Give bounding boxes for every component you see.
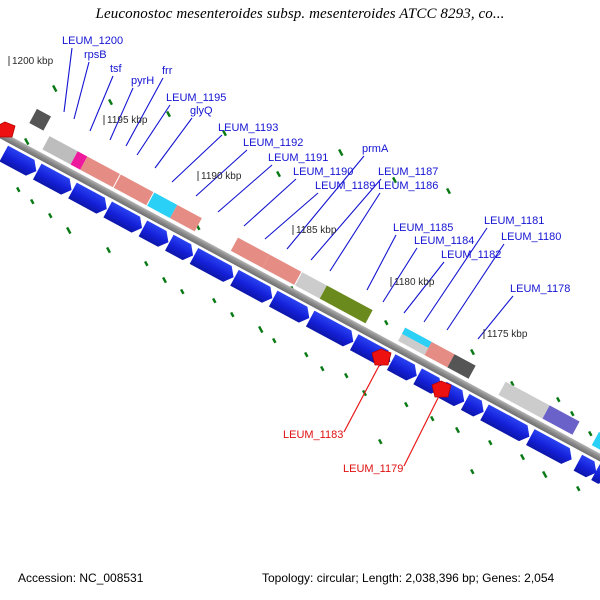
gene-leader-line bbox=[155, 118, 192, 168]
genome-map-canvas[interactable]: LEUM_1200rpsBtsfpyrHfrrLEUM_1195glyQLEUM… bbox=[0, 0, 600, 600]
gene-leader-line bbox=[367, 235, 396, 290]
gene-label[interactable]: pyrH bbox=[131, 75, 154, 87]
gene-label[interactable]: LEUM_1195 bbox=[166, 92, 226, 104]
scale-tick-label: 1200 kbp bbox=[12, 56, 54, 67]
gene-label[interactable]: LEUM_1193 bbox=[218, 122, 278, 134]
marked-gene-label[interactable]: LEUM_1183 bbox=[283, 429, 343, 441]
gene-leader-line bbox=[137, 105, 170, 155]
marked-gene-leader-line bbox=[404, 394, 440, 466]
scale-tick-label: 1195 kbp bbox=[107, 115, 148, 126]
gene-label[interactable]: LEUM_1178 bbox=[510, 283, 570, 295]
scale-tick-label: 1190 kbp bbox=[201, 171, 242, 182]
gene-label[interactable]: LEUM_1192 bbox=[243, 137, 303, 149]
gene-label[interactable]: LEUM_1190 bbox=[293, 166, 353, 178]
gene-leader-line bbox=[126, 78, 163, 146]
gene-leader-line bbox=[64, 48, 72, 112]
gene-label[interactable]: LEUM_1191 bbox=[268, 152, 328, 164]
gene-label[interactable]: frr bbox=[162, 65, 173, 77]
footer-metadata: Topology: circular; Length: 2,038,396 bp… bbox=[262, 571, 554, 585]
gene-leader-line bbox=[74, 62, 89, 119]
gene-label[interactable]: prmA bbox=[362, 143, 389, 155]
footer-accession: Accession: NC_008531 bbox=[18, 571, 143, 585]
genome-viewer: Leuconostoc mesenteroides subsp. mesente… bbox=[0, 0, 600, 600]
feature-track-above bbox=[21, 109, 600, 591]
scale-tick-label: 1180 kbp bbox=[394, 277, 435, 288]
gene-label[interactable]: rpsB bbox=[84, 49, 107, 61]
scale-tick-label: 1175 kbp bbox=[487, 329, 528, 340]
gene-label[interactable]: LEUM_1189 bbox=[315, 180, 375, 192]
gene-label[interactable]: LEUM_1187 bbox=[378, 166, 438, 178]
gene-leader-line bbox=[383, 248, 417, 302]
gene-label[interactable]: LEUM_1186 bbox=[378, 180, 438, 192]
gene-label[interactable]: LEUM_1180 bbox=[501, 231, 561, 243]
gene-leader-line bbox=[330, 193, 380, 271]
marked-gene-leader-line bbox=[344, 362, 381, 432]
gene-label[interactable]: LEUM_1184 bbox=[414, 235, 474, 247]
gene-label[interactable]: LEUM_1185 bbox=[393, 222, 453, 234]
gene-leader-line bbox=[110, 88, 133, 140]
scale-tick-label: 1185 kbp bbox=[296, 225, 337, 236]
gene-label[interactable]: tsf bbox=[110, 63, 123, 75]
gene-label[interactable]: LEUM_1200 bbox=[62, 35, 123, 47]
gene-label[interactable]: LEUM_1181 bbox=[484, 215, 544, 227]
cds-track-below bbox=[0, 146, 600, 600]
gene-label[interactable]: glyQ bbox=[190, 105, 213, 117]
marked-gene-label[interactable]: LEUM_1179 bbox=[343, 463, 403, 475]
genome-axis-line bbox=[0, 111, 600, 600]
